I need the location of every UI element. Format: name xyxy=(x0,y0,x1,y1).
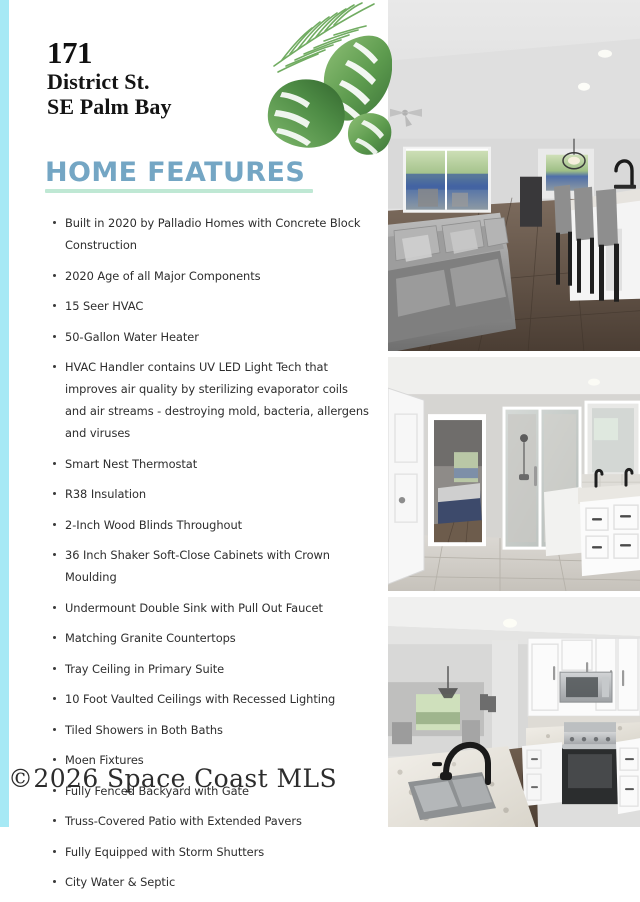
living-room-photo xyxy=(388,0,640,351)
list-item: 15 Seer HVAC xyxy=(52,295,370,317)
list-item: Undermount Double Sink with Pull Out Fau… xyxy=(52,597,370,619)
home-features-heading: HOME FEATURES xyxy=(45,158,313,188)
list-item: City Water & Septic xyxy=(52,871,370,893)
address-street: District St. xyxy=(47,69,172,94)
list-item: 2020 Age of all Major Components xyxy=(52,265,370,287)
list-item: Tray Ceiling in Primary Suite xyxy=(52,658,370,680)
content-column: 171 District St. SE Palm Bay HOME FEATUR… xyxy=(0,0,388,827)
home-features-list: Built in 2020 by Palladio Homes with Con… xyxy=(52,212,370,902)
mls-watermark: ©2026 Space Coast MLS xyxy=(8,764,337,793)
list-item: Built in 2020 by Palladio Homes with Con… xyxy=(52,212,370,256)
list-item: HVAC Handler contains UV LED Light Tech … xyxy=(52,356,370,444)
list-item: 50-Gallon Water Heater xyxy=(52,326,370,348)
list-item: Tiled Showers in Both Baths xyxy=(52,719,370,741)
list-item: Truss-Covered Patio with Extended Pavers xyxy=(52,810,370,832)
flyer-page: 171 District St. SE Palm Bay HOME FEATUR… xyxy=(0,0,640,827)
list-item: Smart Nest Thermostat xyxy=(52,453,370,475)
home-features-heading-group: HOME FEATURES xyxy=(45,158,313,193)
tropical-leaves-icon xyxy=(252,0,392,169)
left-accent-strip xyxy=(0,0,9,827)
primary-bath-photo xyxy=(388,357,640,590)
address-city: SE Palm Bay xyxy=(47,94,172,119)
list-item: 36 Inch Shaker Soft-Close Cabinets with … xyxy=(52,544,370,588)
address-number: 171 xyxy=(47,36,172,69)
kitchen-photo xyxy=(388,597,640,827)
address-block: 171 District St. SE Palm Bay xyxy=(47,36,172,119)
list-item: 2-Inch Wood Blinds Throughout xyxy=(52,514,370,536)
heading-underline xyxy=(45,189,313,193)
list-item: 10 Foot Vaulted Ceilings with Recessed L… xyxy=(52,688,370,710)
list-item: R38 Insulation xyxy=(52,483,370,505)
list-item: Matching Granite Countertops xyxy=(52,627,370,649)
photo-column xyxy=(388,0,640,827)
list-item: Fully Equipped with Storm Shutters xyxy=(52,841,370,863)
